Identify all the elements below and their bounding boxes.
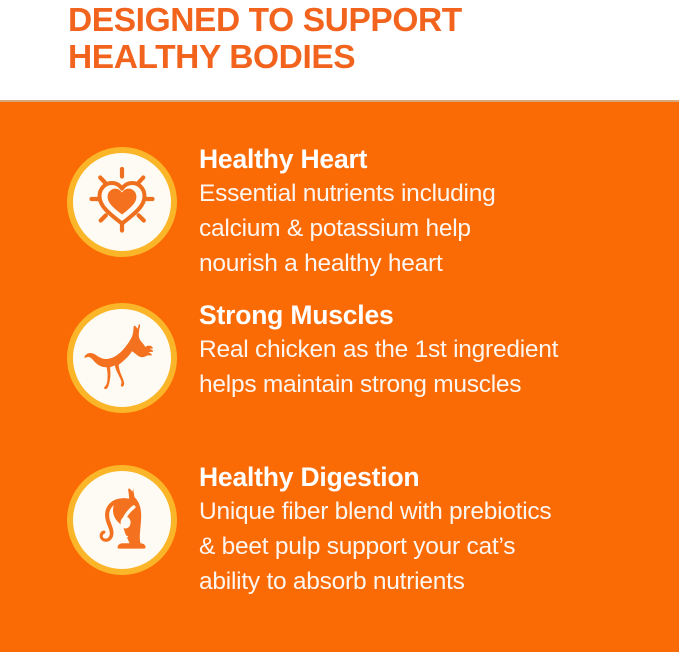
feature-description: Essential nutrients including calcium & … — [199, 176, 669, 281]
feature-heading: Healthy Digestion — [199, 461, 669, 493]
page-title: DESIGNED TO SUPPORT HEALTHY BODIES — [68, 2, 628, 76]
feature-description: Real chicken as the 1st ingredient helps… — [199, 332, 669, 402]
promo-panel: DESIGNED TO SUPPORT HEALTHY BODIES — [0, 0, 679, 652]
feature-heading: Healthy Heart — [199, 143, 669, 175]
header-band: DESIGNED TO SUPPORT HEALTHY BODIES — [0, 0, 679, 101]
feature-icon-badge — [67, 465, 177, 575]
features-section: Healthy Heart Essential nutrients includ… — [0, 102, 679, 652]
feature-description: Unique fiber blend with prebiotics & bee… — [199, 494, 669, 599]
feature-heading: Strong Muscles — [199, 299, 669, 331]
feature-icon-badge — [67, 147, 177, 257]
feature-icon-badge — [67, 303, 177, 413]
feature-text-block: Healthy Heart Essential nutrients includ… — [199, 143, 669, 281]
feature-text-block: Healthy Digestion Unique fiber blend wit… — [199, 461, 669, 599]
feature-text-block: Strong Muscles Real chicken as the 1st i… — [199, 299, 669, 402]
